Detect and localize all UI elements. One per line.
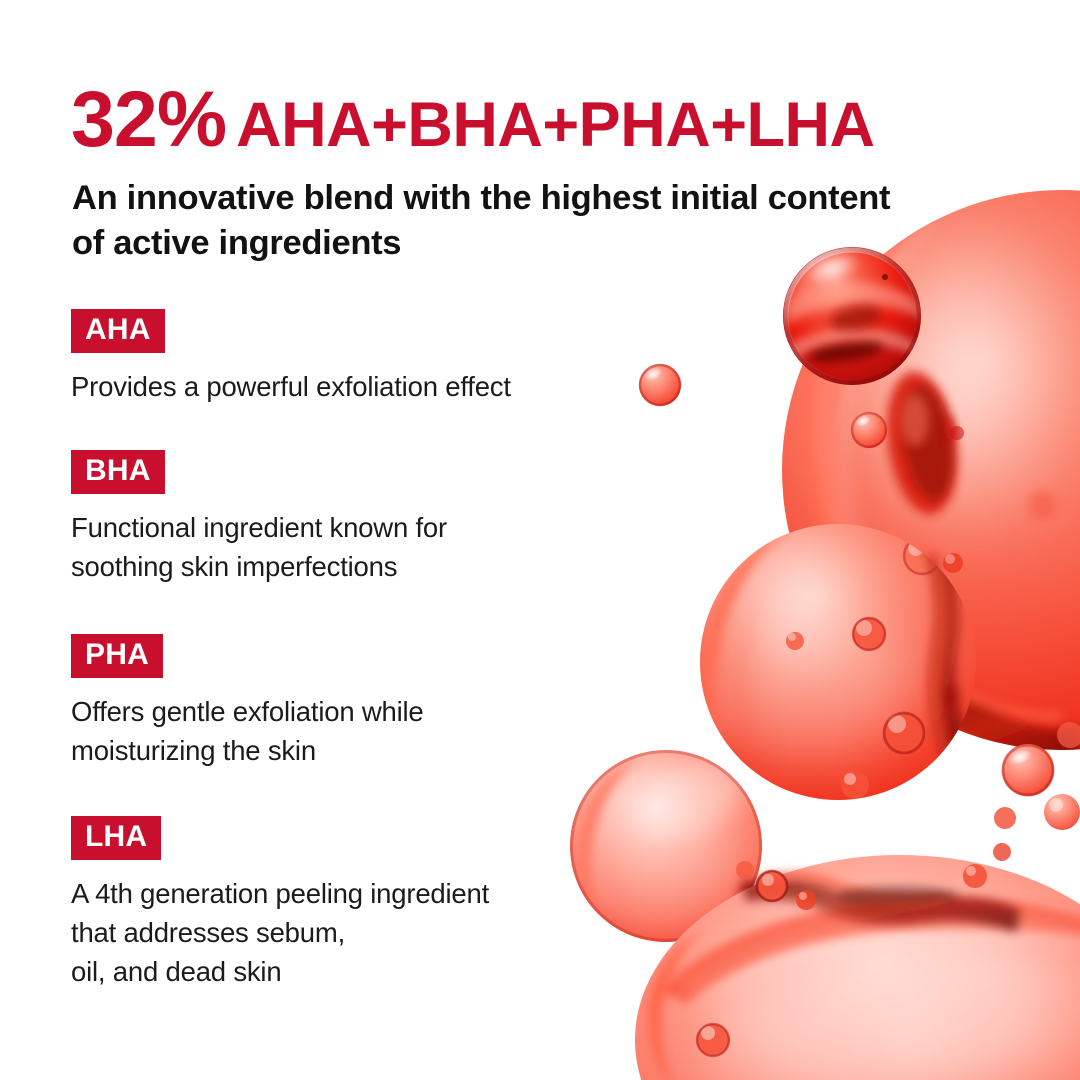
ingredient-item-aha: AHA Provides a powerful exfoliation effe… [71, 309, 511, 406]
ingredient-description-aha: Provides a powerful exfoliation effect [71, 367, 511, 406]
ingredient-description-bha: Functional ingredient known for soothing… [71, 508, 447, 586]
status-badge-aha: AHA [71, 309, 165, 353]
headline-acids: AHA+BHA+PHA+LHA [236, 90, 874, 160]
text-content: 32%AHA+BHA+PHA+LHA An innovative blend w… [0, 0, 1080, 1080]
headline-percent: 32% [71, 74, 226, 163]
status-badge-lha: LHA [71, 816, 161, 860]
subtitle: An innovative blend with the highest ini… [72, 176, 902, 265]
status-badge-bha: BHA [71, 450, 165, 494]
ingredient-item-bha: BHA Functional ingredient known for soot… [71, 450, 447, 586]
ingredient-description-lha: A 4th generation peeling ingredient that… [71, 874, 489, 991]
page-title: 32%AHA+BHA+PHA+LHA [71, 79, 874, 158]
status-badge-pha: PHA [71, 634, 163, 678]
ingredient-item-lha: LHA A 4th generation peeling ingredient … [71, 816, 489, 991]
ingredient-description-pha: Offers gentle exfoliation while moisturi… [71, 692, 424, 770]
ingredient-item-pha: PHA Offers gentle exfoliation while mois… [71, 634, 424, 770]
product-ingredient-infographic: 32%AHA+BHA+PHA+LHA An innovative blend w… [0, 0, 1080, 1080]
